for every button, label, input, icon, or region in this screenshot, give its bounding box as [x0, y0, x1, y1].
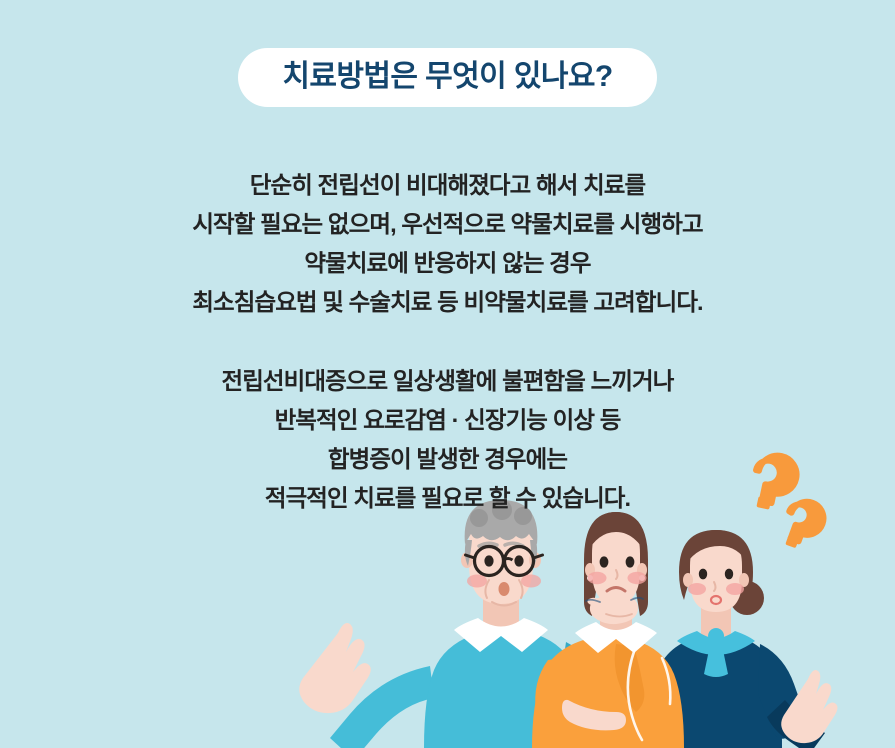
collar-white [575, 622, 657, 653]
paragraph-1-line-3: 약물치료에 반응하지 않는 경우 [0, 244, 895, 283]
collar-white [454, 618, 548, 652]
body-copy: 단순히 전립선이 비대해졌다고 해서 치료를 시작할 필요는 없으며, 우선적으… [0, 166, 895, 518]
eye-right [725, 569, 733, 580]
hand-on-chin [586, 594, 643, 624]
paragraph-2-line-1: 전립선비대증으로 일상생활에 불편함을 느끼거나 [0, 362, 895, 401]
eye-right [514, 555, 523, 566]
hand-folded [562, 700, 626, 730]
paragraph-2-line-4: 적극적인 치료를 필요로 할 수 있습니다. [0, 479, 895, 518]
paragraph-2: 전립선비대증으로 일상생활에 불편함을 느끼거나 반복적인 요로감염 · 신장기… [0, 362, 895, 518]
eye-left [699, 569, 707, 580]
paragraph-2-line-2: 반복적인 요로감염 · 신장기능 이상 등 [0, 401, 895, 440]
paragraph-1-line-4: 최소침습요법 및 수술치료 등 비약물치료를 고려합니다. [0, 283, 895, 322]
collar-cyan [677, 631, 755, 655]
figure-woman-center [532, 512, 684, 748]
page-title: 치료방법은 무엇이 있나요? [282, 59, 612, 94]
man-left-arm [299, 623, 434, 748]
infographic-card: 치료방법은 무엇이 있나요? 단순히 전립선이 비대해졌다고 해서 치료를 시작… [0, 0, 895, 748]
hair-bob [584, 512, 648, 616]
hand-open-left [299, 623, 371, 713]
scarf-bow [704, 650, 728, 677]
glasses-icon [466, 547, 543, 576]
hair-bun [730, 581, 764, 615]
paragraph-1-line-2: 시작할 필요는 없으며, 우선적으로 약물치료를 시행하고 [0, 205, 895, 244]
paragraph-1-line-1: 단순히 전립선이 비대해졌다고 해서 치료를 [0, 166, 895, 205]
woman-right-arm [758, 644, 837, 748]
page-title-pill: 치료방법은 무엇이 있나요? [238, 48, 656, 107]
eye-right [626, 556, 635, 567]
paragraph-1: 단순히 전립선이 비대해졌다고 해서 치료를 시작할 필요는 없으며, 우선적으… [0, 166, 895, 322]
page-title-container: 치료방법은 무엇이 있나요? [0, 48, 895, 107]
eye-left [600, 556, 609, 567]
paragraph-2-line-3: 합병증이 발생한 경우에는 [0, 440, 895, 479]
hand-open-right [781, 670, 837, 743]
figure-woman-right [650, 530, 837, 748]
figure-elderly-man [299, 500, 612, 748]
eye-left [484, 555, 493, 566]
